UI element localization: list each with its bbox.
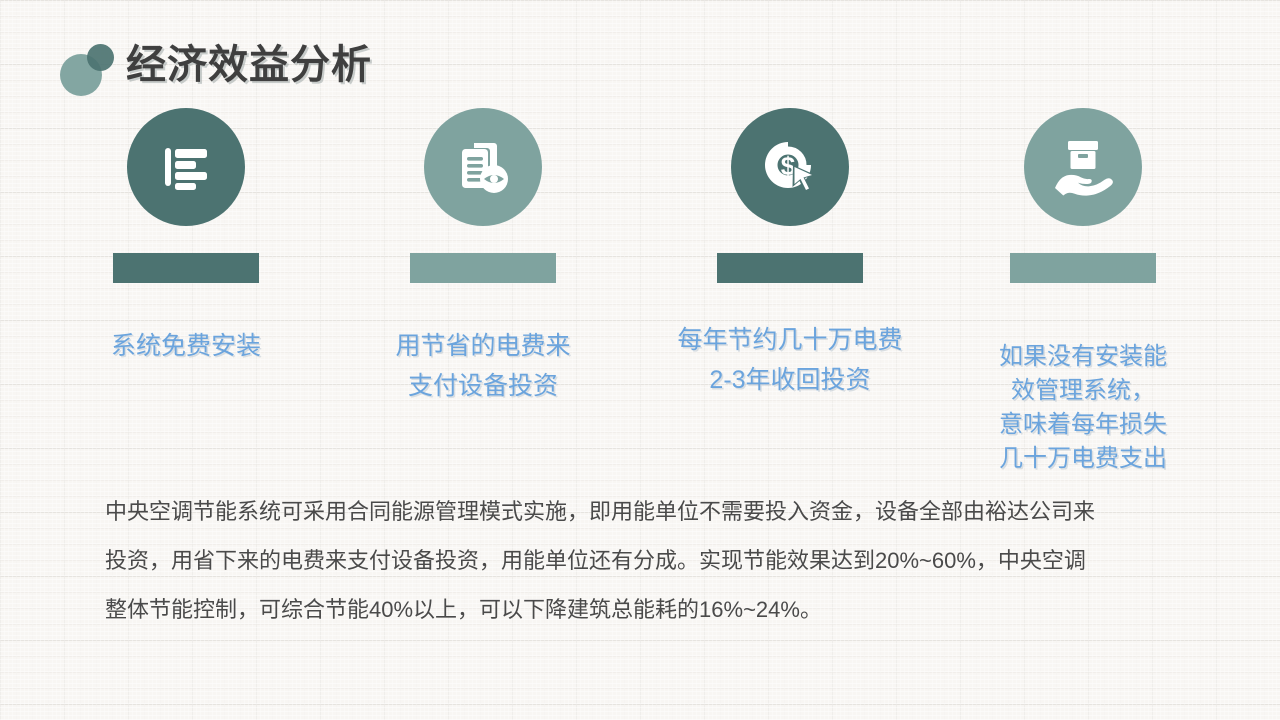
pin-column-1 xyxy=(41,108,331,258)
pin-graphic-3: $ xyxy=(645,108,935,258)
logo-small-circle-icon xyxy=(87,44,114,71)
pin-graphic-4 xyxy=(938,108,1228,258)
map-pin-shape-3: $ xyxy=(707,84,874,251)
pin-caption-2: 用节省的电费来 支付设备投资 xyxy=(338,326,628,406)
body-line: 中央空调节能系统可采用合同能源管理模式实施，即用能单位不需要投入资金，设备全部由… xyxy=(105,487,1190,536)
caption-line: 几十万电费支出 xyxy=(938,442,1228,476)
caption-line: 支付设备投资 xyxy=(338,366,628,406)
logo-mark xyxy=(60,42,118,96)
pin-graphic-2 xyxy=(338,108,628,258)
caption-line: 意味着每年损失 xyxy=(938,408,1228,442)
pin-caption-1: 系统免费安装 xyxy=(41,326,331,366)
hand-holding-box-icon xyxy=(1024,108,1142,226)
pin-column-2 xyxy=(338,108,628,258)
map-pin-shape-2 xyxy=(400,84,567,251)
slide-canvas: 经济效益分析 系统免费安装 xyxy=(0,0,1280,720)
pin-base-bar-4 xyxy=(1010,253,1156,283)
pin-column-3: $ xyxy=(645,108,935,258)
caption-line: 如果没有安装能 xyxy=(938,340,1228,374)
page-title: 经济效益分析 xyxy=(126,36,372,94)
body-line: 整体节能控制，可综合节能40%以上，可以下降建筑总能耗的16%~24%。 xyxy=(105,585,1190,634)
caption-line: 用节省的电费来 xyxy=(338,326,628,366)
caption-line: 每年节约几十万电费 xyxy=(645,320,935,360)
caption-line: 2-3年收回投资 xyxy=(645,360,935,400)
bar-chart-list-icon xyxy=(127,108,245,226)
pin-caption-3: 每年节约几十万电费 2-3年收回投资 xyxy=(645,320,935,400)
caption-line: 系统免费安装 xyxy=(41,326,331,366)
pin-base-bar-2 xyxy=(410,253,556,283)
pin-base-bar-3 xyxy=(717,253,863,283)
pin-column-4 xyxy=(938,108,1228,258)
map-pin-shape-1 xyxy=(103,84,270,251)
pin-caption-4: 如果没有安装能 效管理系统， 意味着每年损失 几十万电费支出 xyxy=(938,340,1228,476)
pin-base-bar-1 xyxy=(113,253,259,283)
caption-line: 效管理系统， xyxy=(938,374,1228,408)
body-line: 投资，用省下来的电费来支付设备投资，用能单位还有分成。实现节能效果达到20%~6… xyxy=(105,536,1190,585)
dollar-coin-cursor-icon: $ xyxy=(731,108,849,226)
document-review-eye-icon xyxy=(424,108,542,226)
pin-graphic-1 xyxy=(41,108,331,258)
map-pin-shape-4 xyxy=(1000,84,1167,251)
body-paragraph: 中央空调节能系统可采用合同能源管理模式实施，即用能单位不需要投入资金，设备全部由… xyxy=(105,487,1190,634)
